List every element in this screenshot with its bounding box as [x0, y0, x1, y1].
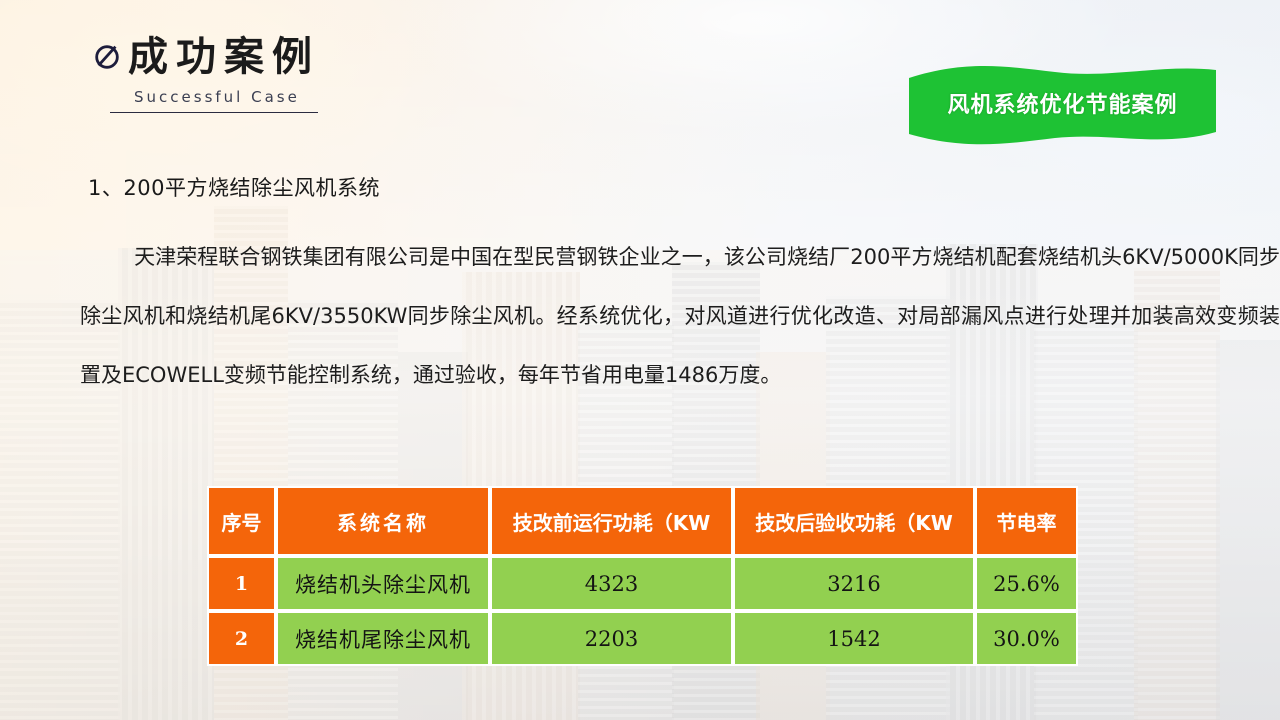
cell-power-after: 3216	[733, 556, 975, 611]
page-title: 成功案例	[128, 36, 320, 78]
cell-power-before: 4323	[490, 556, 733, 611]
table-header-row: 序号 系统名称 技改前运行功耗（KW 技改后验收功耗（KW 节电率	[207, 486, 1078, 556]
col-header-power-before: 技改前运行功耗（KW	[490, 486, 733, 556]
cell-power-after: 1542	[733, 611, 975, 666]
content-paragraph: 天津荣程联合钢铁集团有限公司是中国在型民营钢铁企业之一，该公司烧结厂200平方烧…	[80, 228, 1280, 405]
cell-power-before: 2203	[490, 611, 733, 666]
slashed-circle-icon	[92, 42, 122, 72]
title-divider	[110, 112, 318, 113]
table-row: 2 烧结机尾除尘风机 2203 1542 30.0%	[207, 611, 1078, 666]
section-ribbon: 风机系统优化节能案例	[905, 60, 1220, 150]
col-header-saving-rate: 节电率	[975, 486, 1078, 556]
cell-index: 2	[207, 611, 276, 666]
slide-title-block: 成功案例 Successful Case	[92, 36, 320, 113]
cell-saving-rate: 25.6%	[975, 556, 1078, 611]
cell-index: 1	[207, 556, 276, 611]
cell-system-name: 烧结机尾除尘风机	[276, 611, 490, 666]
cell-system-name: 烧结机头除尘风机	[276, 556, 490, 611]
col-header-system-name: 系统名称	[276, 486, 490, 556]
table-row: 1 烧结机头除尘风机 4323 3216 25.6%	[207, 556, 1078, 611]
col-header-index: 序号	[207, 486, 276, 556]
paragraph-text: 天津荣程联合钢铁集团有限公司是中国在型民营钢铁企业之一，该公司烧结厂200平方烧…	[80, 245, 1280, 387]
col-header-power-after: 技改后验收功耗（KW	[733, 486, 975, 556]
cell-saving-rate: 30.0%	[975, 611, 1078, 666]
ribbon-label: 风机系统优化节能案例	[905, 87, 1220, 119]
page-subtitle: Successful Case	[134, 88, 320, 106]
results-table: 序号 系统名称 技改前运行功耗（KW 技改后验收功耗（KW 节电率 1 烧结机头…	[207, 486, 1078, 666]
content-heading: 1、200平方烧结除尘风机系统	[88, 172, 380, 202]
